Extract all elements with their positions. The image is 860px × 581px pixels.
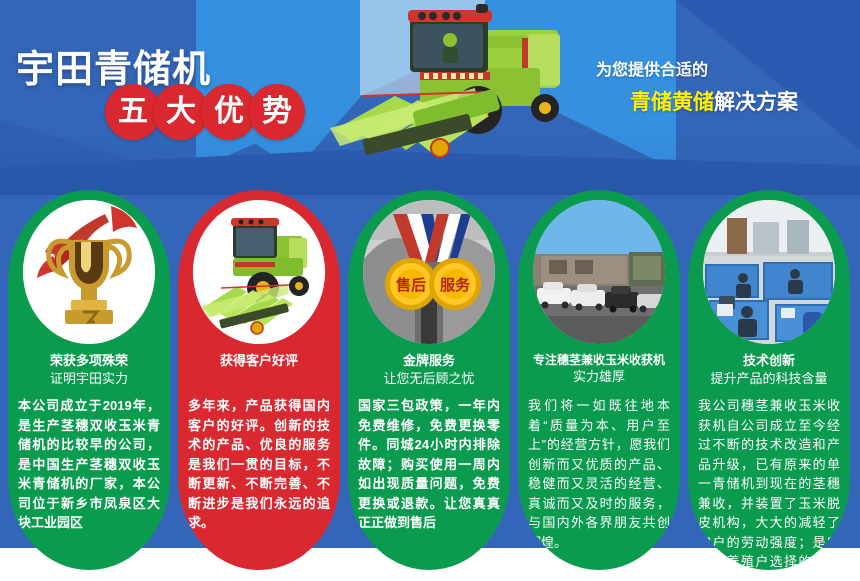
advantage-card-3-body: 国家三包政策，一年内免费维修，免费更换零件。同城24小时内排除故障；购买使用一周… — [358, 396, 500, 533]
advantage-card-5-title-line1: 技术创新 — [692, 352, 846, 370]
advantage-card-5-title-line2: 提升产品的科技含量 — [692, 370, 846, 388]
banner-subtitle: 为您提供合适的 — [596, 56, 708, 80]
advantage-card-5-title: 技术创新 提升产品的科技含量 — [692, 352, 846, 387]
trophy-award-photo — [23, 200, 155, 344]
advantage-card-2-body: 多年来，产品获得国内客户的好评。创新的技术的产品、优良的服务是我们一贯的目标，不… — [188, 396, 330, 533]
banner-solution-line: 青储黄储解决方案 — [630, 86, 798, 116]
medal-right-label: 服务 — [440, 276, 471, 294]
advantage-card-4[interactable]: 专注穗茎兼收玉米收获机 实力雄厚 我们将一如既往地本着“质量为本、用户至上”的经… — [518, 190, 680, 570]
slogan-badge-group: 五 大 优 势 — [105, 84, 297, 140]
slogan-char-4: 势 — [249, 84, 305, 140]
advantage-card-1[interactable]: 荣获多项殊荣 证明宇田实力 本公司成立于2019年，是生产茎穗双收玉米青储机的比… — [8, 190, 170, 570]
advantage-card-5[interactable]: 技术创新 提升产品的科技含量 我公司穗茎兼收玉米收获机自公司成立至今经过不断的技… — [688, 190, 850, 570]
advantage-card-4-title: 专注穗茎兼收玉米收获机 实力雄厚 — [522, 352, 676, 386]
office-workspace-photo — [703, 200, 835, 344]
advantage-card-2-title-line1: 获得客户好评 — [182, 352, 336, 370]
advantage-card-2-title: 获得客户好评 — [182, 352, 336, 370]
advantage-card-3[interactable]: 售后 服务 金牌服务 让您无后顾之忧 国家三包政策，一年内免费维修，免费更换零件… — [348, 190, 510, 570]
banner-solution-highlight: 青储黄储 — [630, 91, 714, 114]
advantage-card-4-title-line2: 实力雄厚 — [522, 368, 676, 386]
harvester-machine-photo — [193, 200, 325, 344]
advantage-card-3-title-line1: 金牌服务 — [352, 352, 506, 370]
advantage-card-4-body: 我们将一如既往地本着“质量为本、用户至上”的经营方针，愿我们创新而又优质的产品、… — [528, 396, 670, 552]
advantage-card-1-title: 荣获多项殊荣 证明宇田实力 — [12, 352, 166, 387]
advantage-card-1-title-line2: 证明宇田实力 — [12, 370, 166, 388]
advantage-card-4-title-line1: 专注穗茎兼收玉米收获机 — [522, 352, 676, 368]
company-vehicles-photo — [533, 200, 665, 344]
medal-left-label: 售后 — [396, 276, 426, 294]
gold-medals-photo: 售后 服务 — [363, 200, 495, 344]
advantage-card-3-title-line2: 让您无后顾之忧 — [352, 370, 506, 388]
harvester-hero-image — [300, 0, 610, 190]
advantage-card-2[interactable]: 获得客户好评 多年来，产品获得国内客户的好评。创新的技术的产品、优良的服务是我们… — [178, 190, 340, 570]
banner-solution-rest: 解决方案 — [714, 91, 798, 114]
advantage-card-3-title: 金牌服务 让您无后顾之忧 — [352, 352, 506, 387]
advantage-card-5-body: 我公司穗茎兼收玉米收获机自公司成立至今经过不断的技术改造和产品升级，已有原来的单… — [698, 396, 840, 570]
advantage-card-1-body: 本公司成立于2019年，是生产茎穗双收玉米青储机的比较早的公司，是中国生产茎穗双… — [18, 396, 160, 533]
advantage-card-1-title-line1: 荣获多项殊荣 — [12, 352, 166, 370]
